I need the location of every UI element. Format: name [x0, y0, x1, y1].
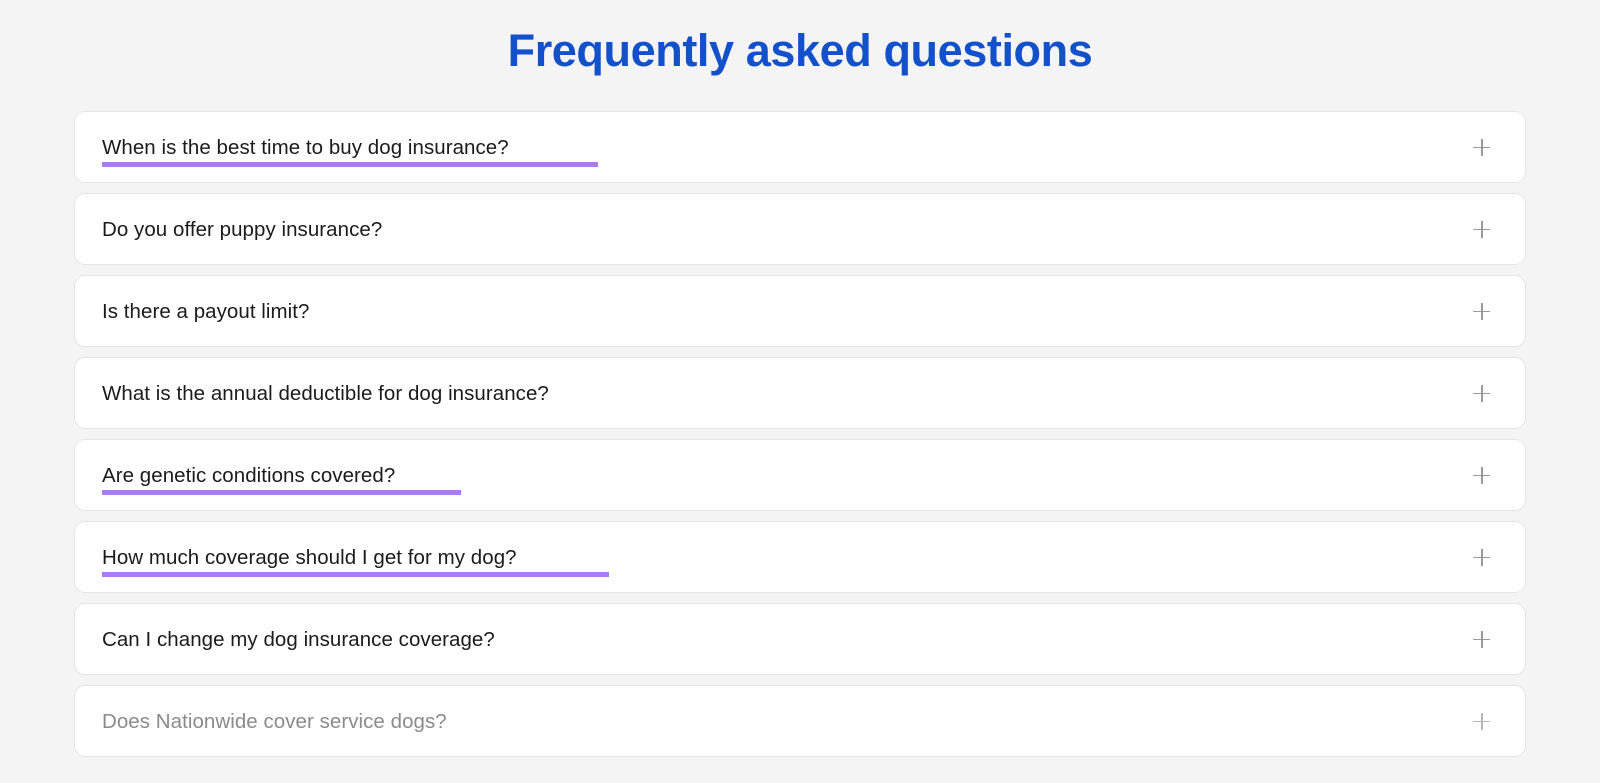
faq-accordion-list: When is the best time to buy dog insuran… — [74, 111, 1526, 767]
faq-question-label: Is there a payout limit? — [102, 299, 309, 325]
faq-item-inner: Are genetic conditions covered? — [102, 440, 1498, 512]
faq-item-inner: Does Nationwide cover service dogs? — [102, 686, 1498, 758]
faq-item[interactable]: Do you offer puppy insurance? — [74, 193, 1526, 265]
faq-item[interactable]: Are genetic conditions covered? — [74, 439, 1526, 511]
plus-icon[interactable] — [1473, 221, 1490, 238]
faq-item-inner: How much coverage should I get for my do… — [102, 522, 1498, 594]
faq-page: Frequently asked questions When is the b… — [0, 0, 1600, 783]
page-title: Frequently asked questions — [0, 22, 1600, 80]
faq-question-label: How much coverage should I get for my do… — [102, 545, 517, 571]
faq-item-inner: What is the annual deductible for dog in… — [102, 358, 1498, 430]
faq-question-highlight — [102, 572, 609, 577]
faq-item[interactable]: Does Nationwide cover service dogs? — [74, 685, 1526, 757]
plus-icon[interactable] — [1473, 139, 1490, 156]
faq-question-label: Do you offer puppy insurance? — [102, 217, 382, 243]
faq-question-label: Can I change my dog insurance coverage? — [102, 627, 495, 653]
faq-question-label: What is the annual deductible for dog in… — [102, 381, 549, 407]
plus-icon[interactable] — [1473, 631, 1490, 648]
faq-item-inner: Is there a payout limit? — [102, 276, 1498, 348]
faq-item[interactable]: How much coverage should I get for my do… — [74, 521, 1526, 593]
plus-icon[interactable] — [1473, 303, 1490, 320]
faq-item[interactable]: When is the best time to buy dog insuran… — [74, 111, 1526, 183]
plus-icon[interactable] — [1473, 549, 1490, 566]
faq-question-label: When is the best time to buy dog insuran… — [102, 135, 509, 161]
faq-question-label: Does Nationwide cover service dogs? — [102, 709, 447, 735]
faq-item[interactable]: Is there a payout limit? — [74, 275, 1526, 347]
plus-icon[interactable] — [1473, 467, 1490, 484]
plus-icon[interactable] — [1473, 713, 1490, 730]
faq-item-inner: When is the best time to buy dog insuran… — [102, 112, 1498, 184]
faq-question-highlight — [102, 490, 461, 495]
faq-item-inner: Can I change my dog insurance coverage? — [102, 604, 1498, 676]
faq-item[interactable]: What is the annual deductible for dog in… — [74, 357, 1526, 429]
faq-question-highlight — [102, 162, 598, 167]
faq-item-inner: Do you offer puppy insurance? — [102, 194, 1498, 266]
plus-icon[interactable] — [1473, 385, 1490, 402]
faq-question-label: Are genetic conditions covered? — [102, 463, 395, 489]
faq-item[interactable]: Can I change my dog insurance coverage? — [74, 603, 1526, 675]
